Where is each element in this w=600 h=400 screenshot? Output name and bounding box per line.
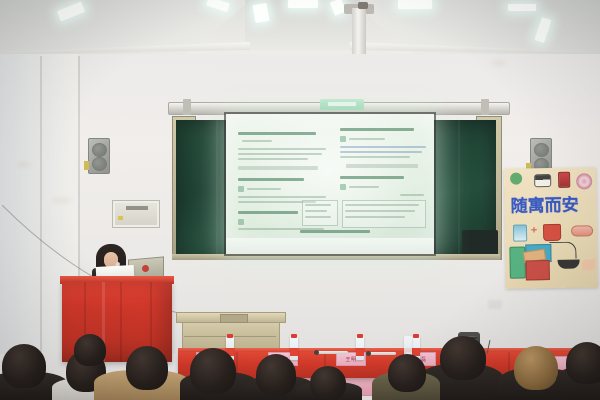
audience-head-8 — [440, 336, 486, 380]
table-microphone-1 — [318, 351, 348, 354]
audience-head-7 — [310, 366, 346, 400]
audience-head-1 — [2, 344, 46, 388]
electrical-panel-label — [126, 206, 148, 210]
chalkboard-shadow-corner — [462, 230, 498, 256]
poster-hotpot-icon — [543, 224, 561, 241]
poster-plus-1: ✛ — [531, 226, 537, 234]
projection-screen-border — [224, 112, 436, 256]
laptop-logo-icon — [142, 265, 149, 272]
microphone-head-2 — [366, 351, 371, 356]
fluorescent-light-3 — [253, 3, 270, 23]
audience-head-3 — [74, 334, 106, 366]
lectern-nameplate — [220, 314, 248, 323]
poster-pan-icon — [558, 260, 580, 269]
poster-hand-icon — [582, 259, 596, 270]
microphone-head-1 — [314, 350, 319, 355]
bottle-cap-2 — [291, 334, 297, 338]
audience-head-11 — [566, 342, 600, 384]
speaker-bracket-left — [84, 161, 89, 170]
bottle-cap-4 — [413, 334, 419, 338]
podium-cloth-fold-2 — [120, 282, 122, 362]
bottle-label-2 — [290, 348, 298, 356]
poster-fishcake-icon — [571, 225, 593, 236]
bottle-cap-3 — [357, 334, 363, 338]
poster-candy-icon — [576, 173, 592, 189]
roller-center-slot — [328, 102, 356, 106]
audience-head-10 — [514, 346, 558, 390]
fluorescent-light-6 — [398, 0, 432, 9]
poster-box-red — [526, 260, 550, 280]
fluorescent-light-4 — [288, 0, 318, 8]
audience-head-5 — [190, 348, 236, 394]
wall-poster: 随寓而安 ✛ — [504, 167, 598, 289]
speaker-cone-upper-left — [92, 143, 107, 157]
lecture-hall-photo: 随寓而安 ✛ — [0, 0, 600, 400]
curtain-fold-5 — [458, 120, 460, 260]
fluorescent-light-8 — [508, 4, 536, 11]
poster-logo-icon — [510, 172, 522, 184]
audience-head-9 — [388, 354, 426, 392]
wall-stain-2 — [52, 198, 72, 203]
electrical-panel-switch — [118, 216, 123, 220]
bottle-label-3 — [356, 348, 364, 356]
roller-bracket-right — [481, 99, 489, 115]
wall-crack-1 — [488, 300, 502, 309]
speaker-cone-upper-right — [534, 143, 549, 157]
poster-can-icon — [558, 172, 570, 188]
speaker-cone-lower-left — [92, 157, 107, 171]
wall-stain-1 — [18, 162, 30, 167]
audience-head-4 — [126, 346, 168, 390]
poster-headline: 随寓而安 — [510, 198, 578, 216]
wall-electrical-panel — [112, 200, 160, 228]
poster-sushi-icon — [534, 174, 551, 187]
bottle-cap-1 — [227, 334, 233, 338]
table-microphone-2 — [370, 352, 396, 355]
poster-jar-icon — [513, 224, 527, 241]
poster-cord — [549, 242, 576, 259]
roller-bracket-left — [183, 99, 191, 115]
wall-stain-3 — [492, 60, 506, 66]
wall-speaker-left — [88, 138, 110, 174]
projector-mount-anchor — [358, 2, 368, 9]
curtain-fold-1 — [216, 120, 218, 260]
audience-head-6 — [256, 354, 296, 396]
